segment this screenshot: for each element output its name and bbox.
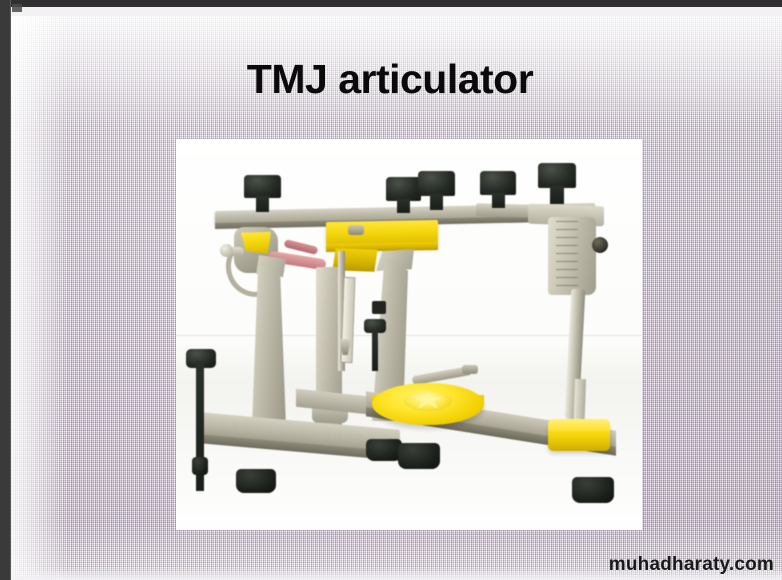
articulator-photo-canvas [176, 139, 642, 530]
condylar-pin-head [220, 244, 233, 257]
slide-title: TMJ articulator [40, 56, 740, 103]
incisal-pin-clip [348, 225, 364, 235]
adjustment-knob-4-stem [492, 193, 505, 208]
window-left-rail [0, 0, 11, 580]
adjustment-knob-2-stem [397, 199, 410, 213]
left-rod-foot [192, 457, 208, 475]
rubber-foot-4 [572, 477, 614, 503]
adjustment-knob-5-stem [550, 186, 564, 204]
incisal-pin-lock [372, 301, 386, 314]
adjustment-knob-1 [244, 175, 281, 198]
adjustment-knob-1-stem [256, 196, 269, 212]
adjustment-knob-3-stem [430, 194, 443, 210]
adjustment-knob-4 [480, 171, 516, 195]
site-watermark: muhadharaty.com [609, 554, 774, 576]
presentation-slide: TMJ articulator [0, 0, 782, 580]
adjustment-knob-3 [418, 171, 455, 196]
rubber-foot-1 [236, 469, 276, 493]
rubber-foot-2 [366, 439, 402, 461]
adjustment-knob-6-stem [372, 331, 378, 371]
window-top-bar [0, 0, 782, 7]
window-corner-marker [12, 4, 22, 12]
yellow-base-block-top [548, 419, 610, 431]
adjustment-knob-2 [386, 177, 421, 201]
incisal-table-arm-tip [462, 365, 478, 374]
rubber-foot-3 [398, 443, 440, 469]
right-post-scale-markings [556, 221, 578, 287]
background-top-strip [10, 7, 782, 16]
articulator-photo [176, 139, 642, 530]
adjustment-knob-5 [538, 163, 576, 188]
right-post-screw [592, 237, 608, 253]
